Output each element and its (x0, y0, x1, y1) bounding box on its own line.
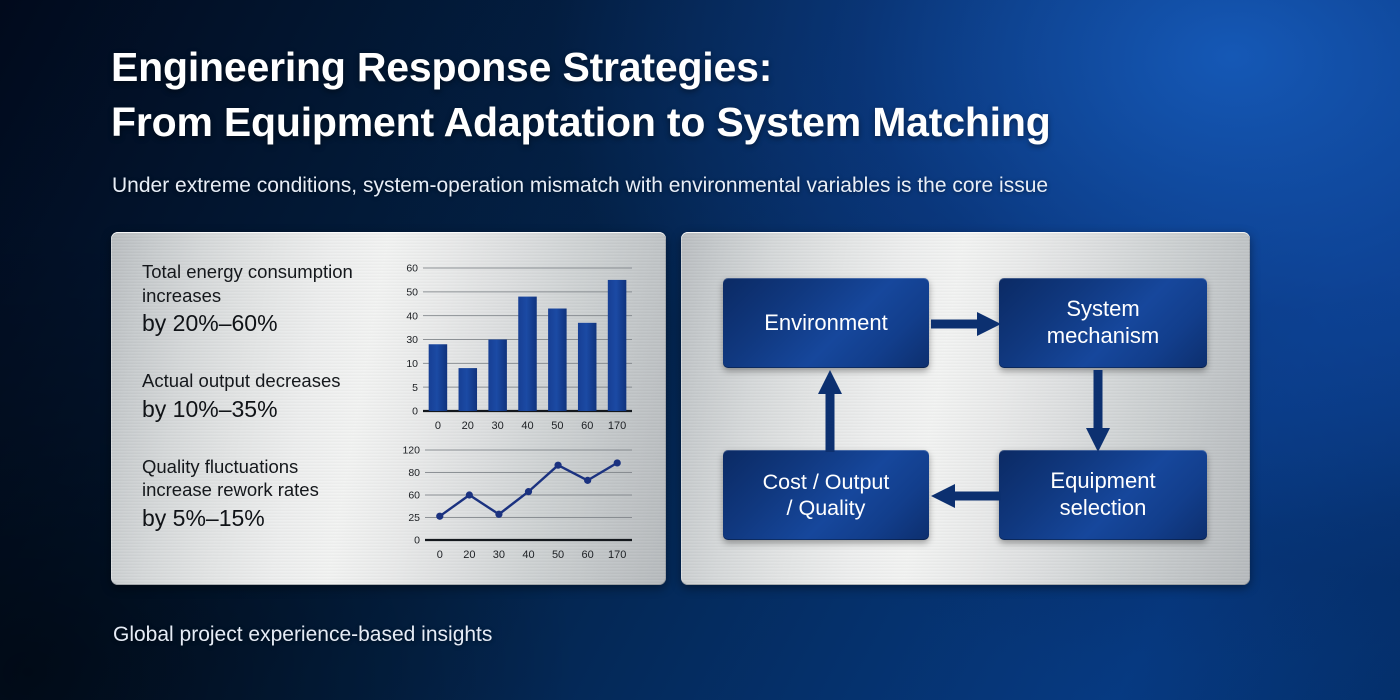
arrow-down-icon (1084, 370, 1112, 452)
svg-text:50: 50 (406, 286, 418, 298)
arrow-left-icon (931, 482, 1001, 510)
svg-text:40: 40 (522, 549, 534, 561)
svg-text:60: 60 (408, 490, 420, 502)
arrow-right-icon (931, 310, 1001, 338)
svg-text:0: 0 (412, 406, 418, 418)
bullet-text: Total energy consumption increases (142, 260, 404, 307)
bullet-value: by 5%–15% (142, 504, 404, 534)
bullet-item: Actual output decreases by 10%–35% (142, 369, 404, 425)
svg-text:20: 20 (463, 549, 475, 561)
metrics-panel: Total energy consumption increases by 20… (111, 232, 666, 585)
bullet-item: Total energy consumption increases by 20… (142, 260, 404, 339)
svg-text:30: 30 (492, 420, 504, 432)
line-chart-svg: 025608012002030405060170 (393, 444, 638, 564)
svg-text:60: 60 (582, 549, 594, 561)
svg-text:0: 0 (414, 535, 420, 547)
svg-text:50: 50 (552, 549, 564, 561)
arrow-up-icon (816, 370, 844, 452)
svg-text:25: 25 (408, 512, 420, 524)
bullet-item: Quality fluctuations increase rework rat… (142, 455, 404, 534)
flow-box-environment[interactable]: Environment (723, 278, 929, 368)
page-subtitle: Under extreme conditions, system-operati… (112, 172, 1302, 199)
bar-chart-svg: 05103040506002030405060170 (393, 262, 638, 437)
svg-text:10: 10 (406, 358, 418, 370)
svg-text:5: 5 (412, 382, 418, 394)
svg-text:80: 80 (408, 467, 420, 479)
line-chart: 025608012002030405060170 (393, 444, 638, 564)
svg-text:50: 50 (551, 420, 563, 432)
bar-chart: 05103040506002030405060170 (393, 262, 638, 437)
svg-text:40: 40 (521, 420, 533, 432)
svg-text:170: 170 (608, 549, 626, 561)
flow-box-cost-output-quality[interactable]: Cost / Output / Quality (723, 450, 929, 540)
slide-root: Engineering Response Strategies: From Eq… (0, 0, 1400, 700)
page-title: Engineering Response Strategies: From Eq… (111, 40, 1291, 149)
svg-text:170: 170 (608, 420, 626, 432)
flowchart-panel: Environment System mechanism Equipment s… (681, 232, 1250, 585)
svg-text:60: 60 (581, 420, 593, 432)
svg-text:120: 120 (402, 445, 420, 457)
bullet-text: Actual output decreases (142, 369, 404, 393)
svg-text:0: 0 (435, 420, 441, 432)
bullet-text: Quality fluctuations increase rework rat… (142, 455, 404, 502)
svg-text:30: 30 (493, 549, 505, 561)
svg-text:30: 30 (406, 334, 418, 346)
svg-text:20: 20 (462, 420, 474, 432)
bullet-value: by 20%–60% (142, 309, 404, 339)
bullet-value: by 10%–35% (142, 395, 404, 425)
svg-text:40: 40 (406, 310, 418, 322)
svg-text:0: 0 (437, 549, 443, 561)
footer-caption: Global project experience-based insights (113, 623, 492, 647)
svg-text:60: 60 (406, 263, 418, 275)
metrics-bullet-list: Total energy consumption increases by 20… (142, 260, 404, 534)
flow-box-system-mechanism[interactable]: System mechanism (999, 278, 1207, 368)
flow-box-equipment-selection[interactable]: Equipment selection (999, 450, 1207, 540)
